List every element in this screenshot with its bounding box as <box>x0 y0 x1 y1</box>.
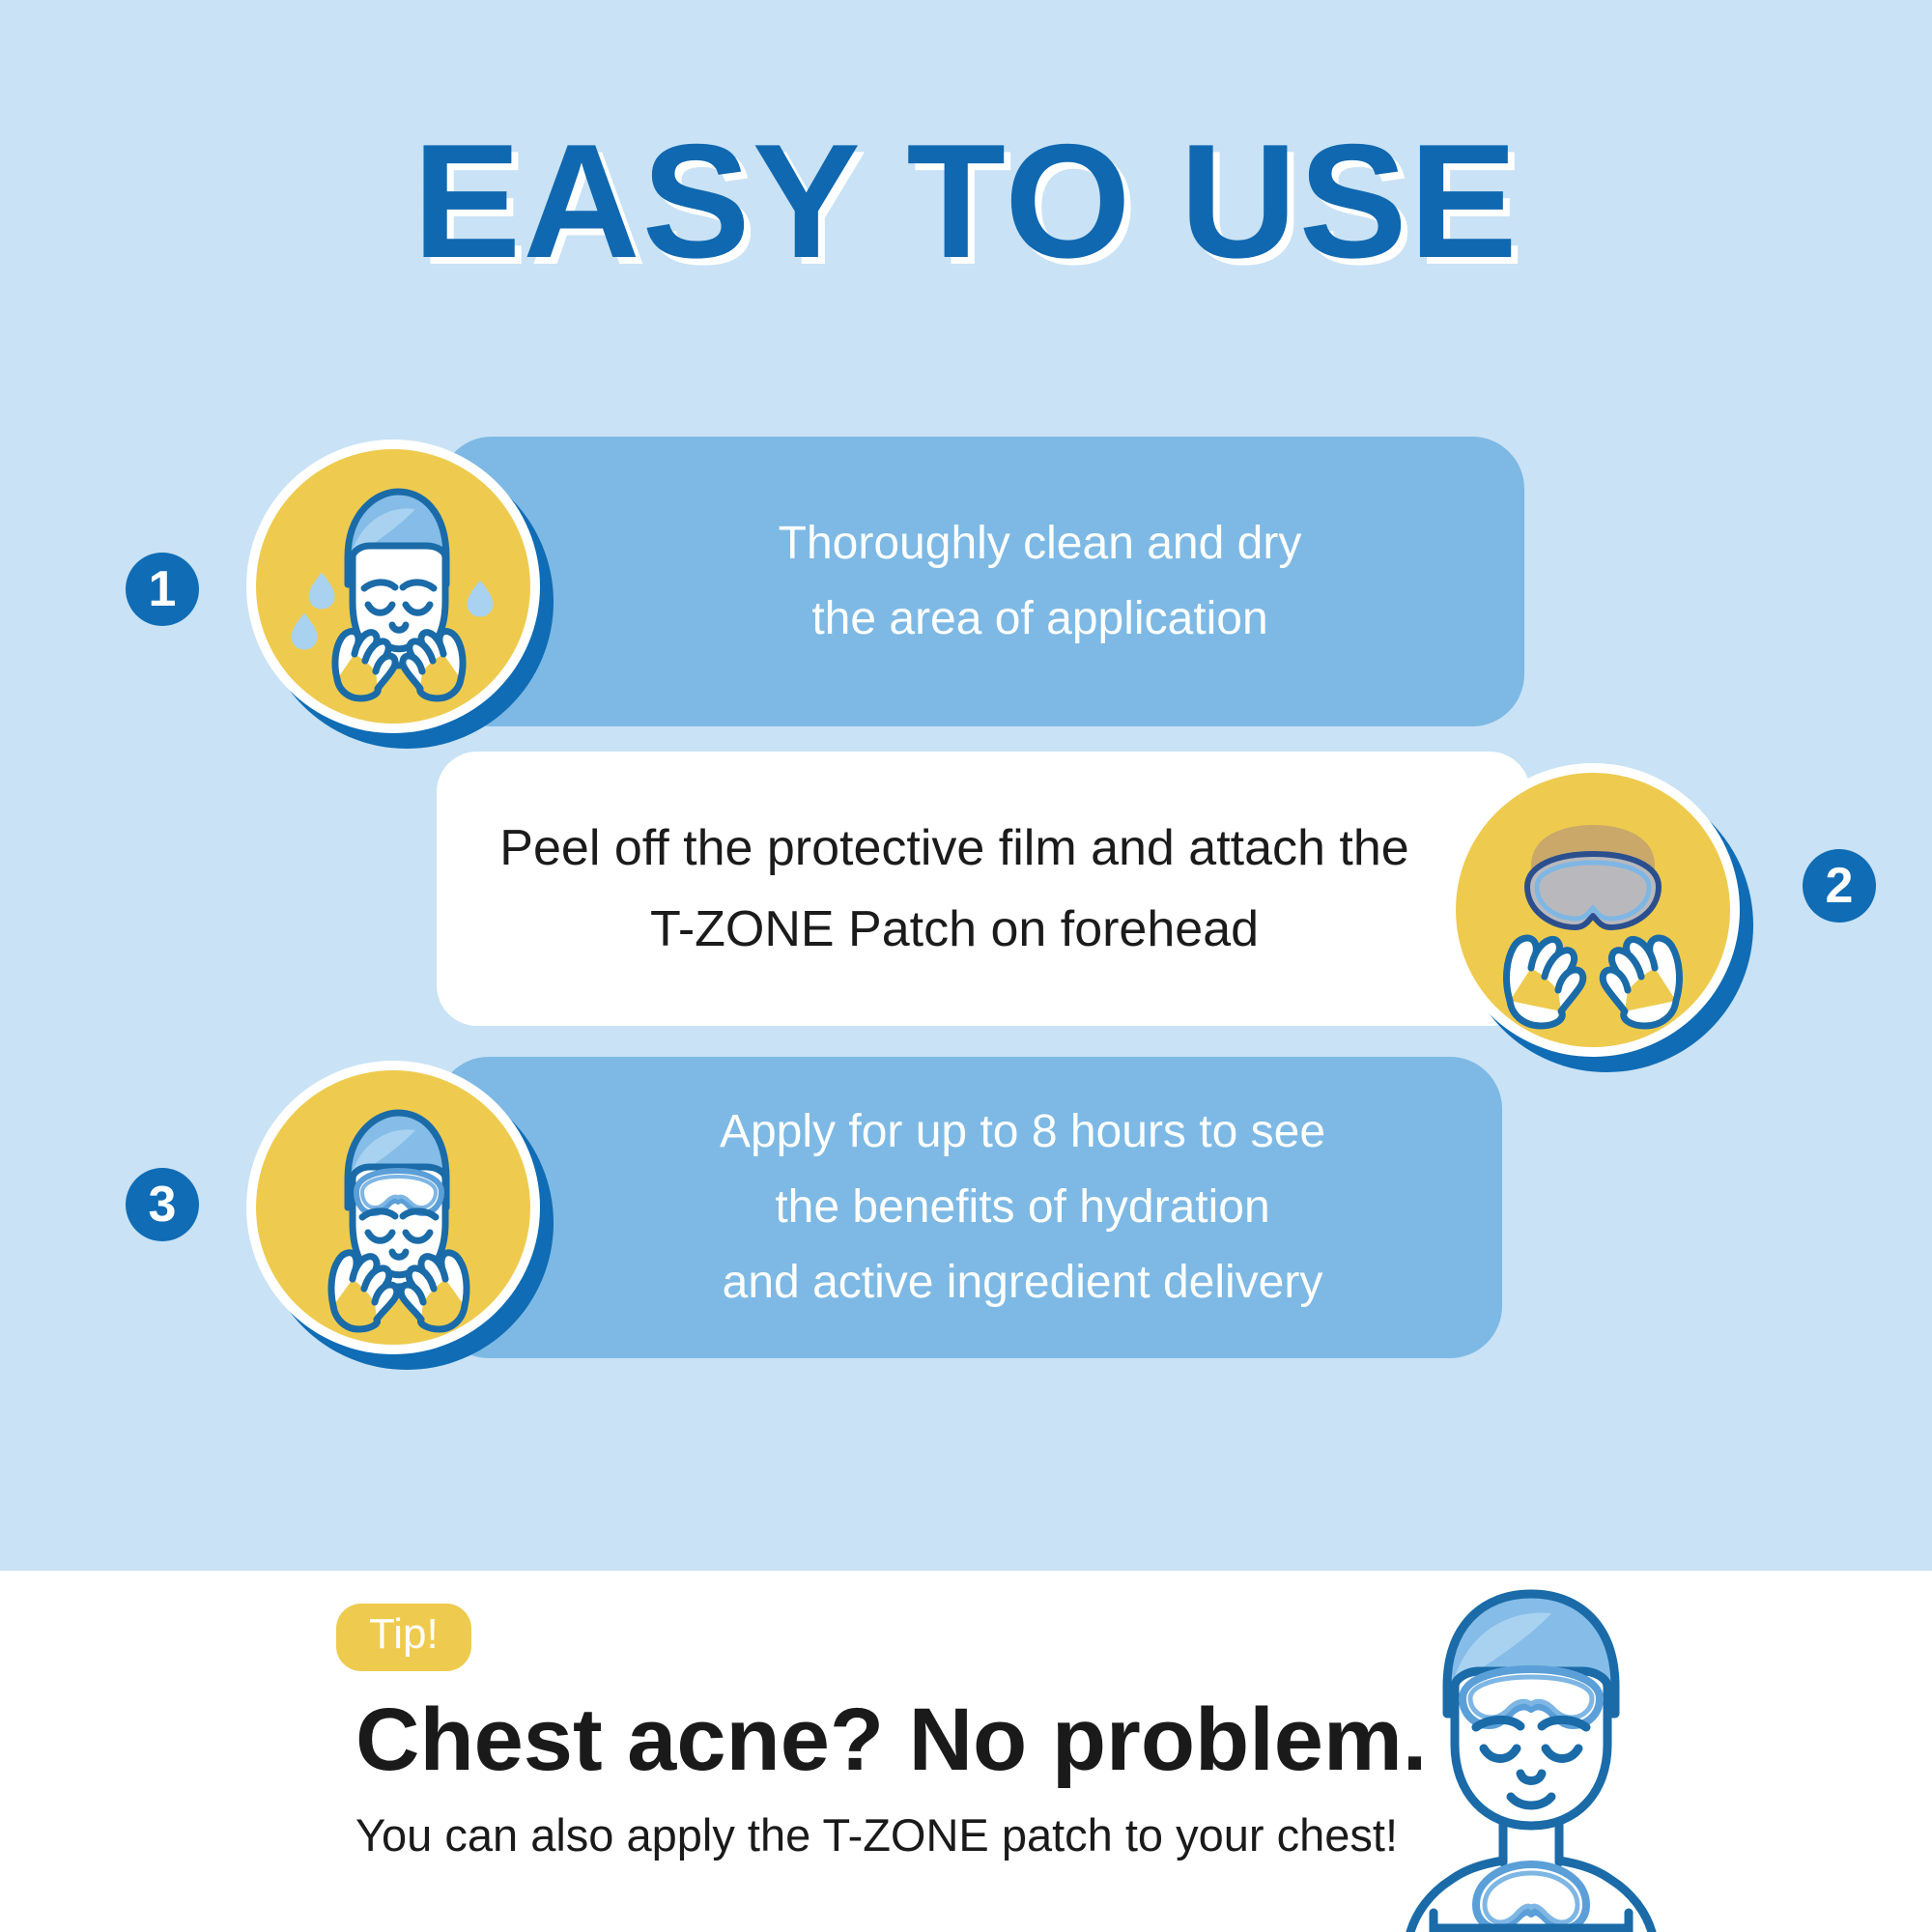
tip-badge: Tip! <box>336 1604 471 1671</box>
step-1-text: Thoroughly clean and dry the area of app… <box>663 506 1302 657</box>
step-1-number-badge: 1 <box>126 553 199 626</box>
step-3-line-2: the benefits of hydration <box>720 1170 1325 1245</box>
person-with-chest-patch-icon <box>1333 1573 1739 1932</box>
face-washing-icon <box>256 449 530 724</box>
infographic-page: EASY TO USE Thoroughly clean and dry the… <box>0 0 1932 1932</box>
step-1-banner: Thoroughly clean and dry the area of app… <box>440 437 1524 726</box>
step-3-icon <box>246 1061 555 1372</box>
face-with-patch-icon <box>256 1070 530 1345</box>
step-1-line-1: Thoroughly clean and dry <box>779 506 1302 582</box>
step-3-line-1: Apply for up to 8 hours to see <box>720 1094 1325 1170</box>
step-1-icon <box>246 440 555 751</box>
tip-headline: Chest acne? No problem. <box>355 1692 1427 1788</box>
hands-peeling-patch-icon <box>1456 773 1730 1047</box>
step-3-text: Apply for up to 8 hours to see the benef… <box>613 1094 1325 1320</box>
step-2-number-badge: 2 <box>1803 849 1876 923</box>
step-3-number-badge: 3 <box>126 1168 199 1241</box>
step-2-banner: Peel off the protective film and attach … <box>437 752 1530 1026</box>
step-2-line-1: Peel off the protective film and attach … <box>499 808 1408 889</box>
step-1-line-2: the area of application <box>779 582 1302 657</box>
step-3-banner: Apply for up to 8 hours to see the benef… <box>437 1057 1502 1358</box>
tip-subtext: You can also apply the T-ZONE patch to y… <box>355 1808 1398 1861</box>
step-3-line-3: and active ingredient delivery <box>720 1245 1325 1321</box>
step-2-icon <box>1446 763 1755 1074</box>
step-2-line-2: T-ZONE Patch on forehead <box>499 889 1408 970</box>
step-2-text: Peel off the protective film and attach … <box>499 808 1466 970</box>
page-title: EASY TO USE <box>0 116 1932 286</box>
